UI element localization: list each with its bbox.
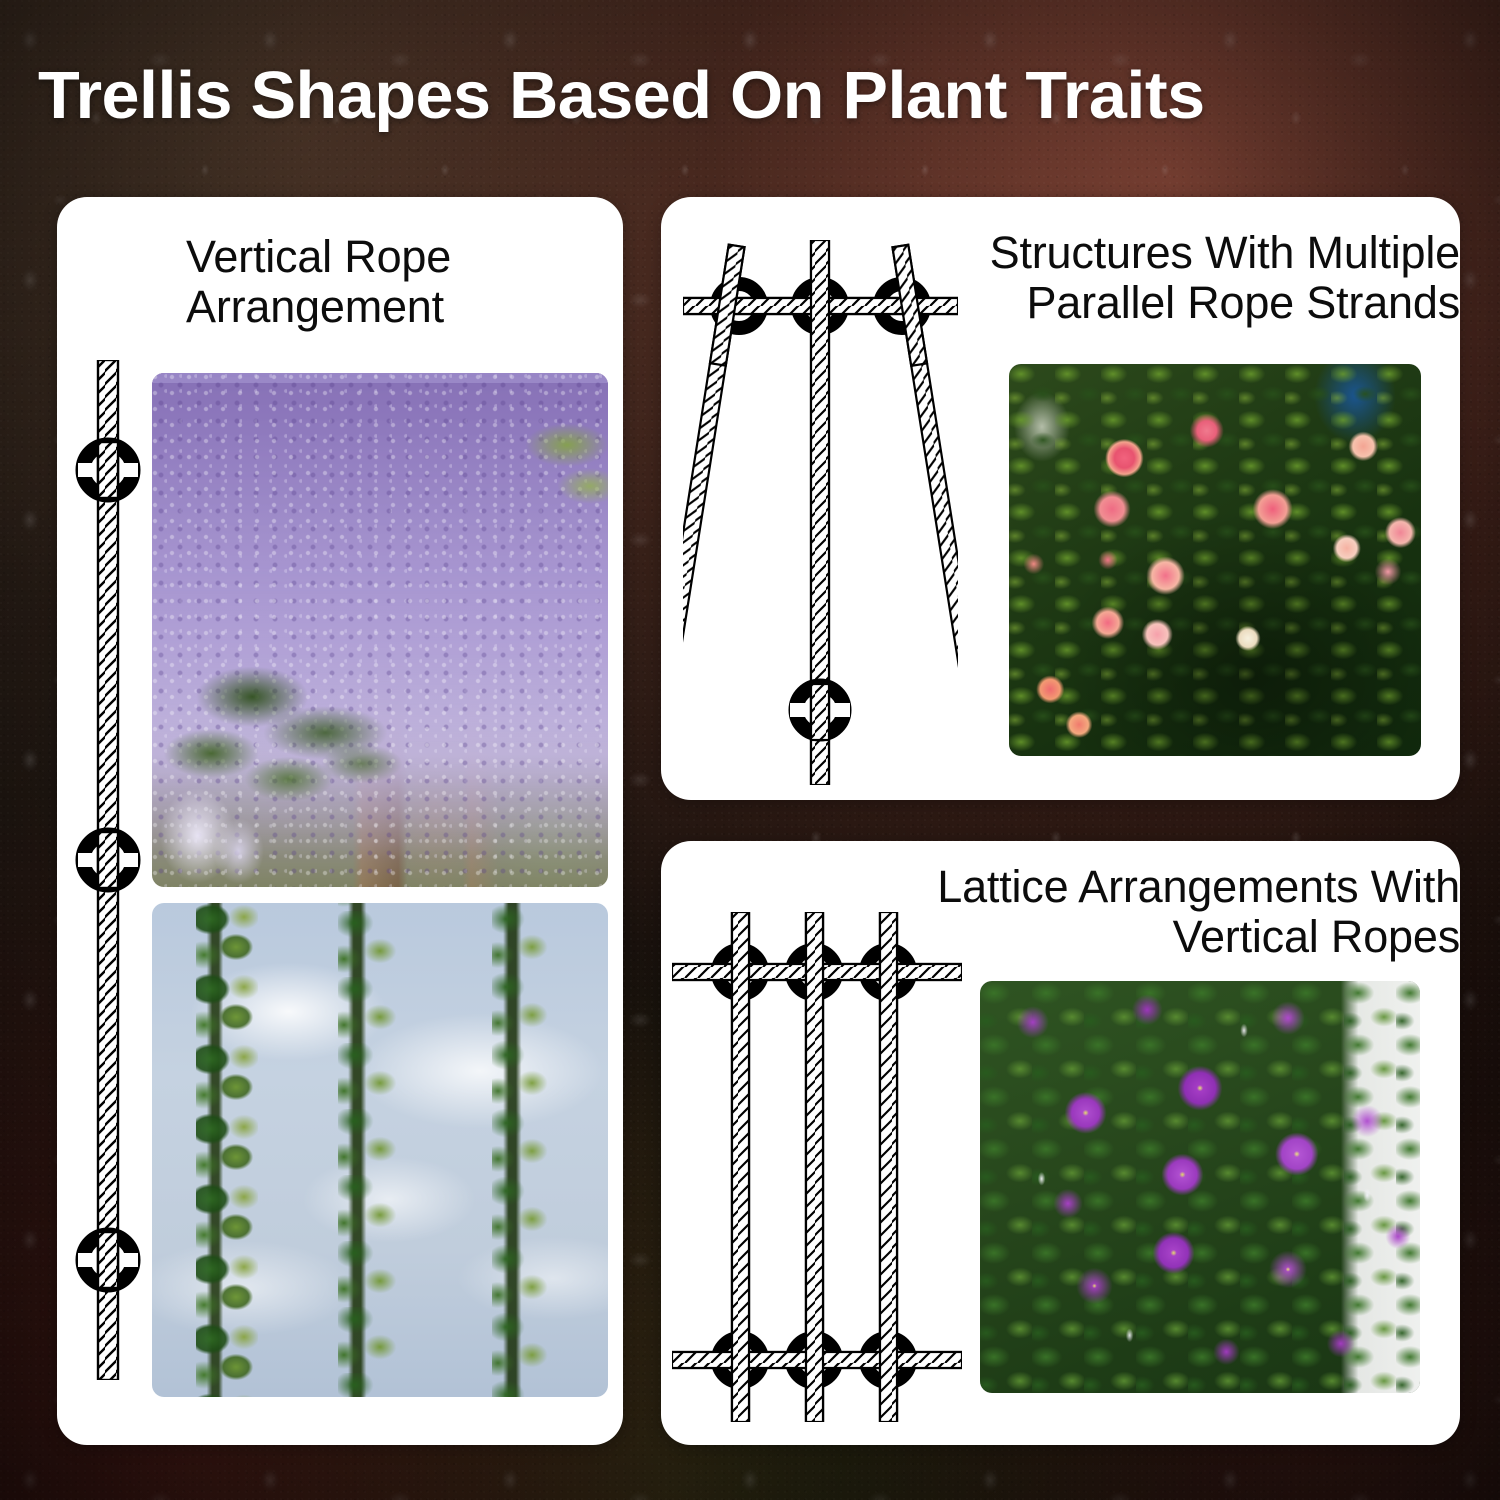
climbing-roses-photo [1009, 364, 1421, 756]
page-title: Trellis Shapes Based On Plant Traits [38, 62, 1497, 129]
card-heading-vertical-rope: Vertical Rope Arrangement [186, 232, 566, 333]
card-heading-parallel-strands: Structures With Multiple Parallel Rope S… [955, 228, 1460, 329]
card-heading-lattice: Lattice Arrangements With Vertical Ropes [915, 862, 1460, 963]
purple-clematis-photo [980, 981, 1420, 1393]
lattice-rope-diagram [672, 912, 962, 1422]
infographic-stage: Trellis Shapes Based On Plant Traits Ver… [0, 0, 1500, 1500]
wisteria-photo [152, 373, 608, 887]
ring-connector [78, 1232, 138, 1288]
ring-connector [790, 684, 850, 740]
ring-connector [78, 442, 138, 498]
vertical-rope-diagram [72, 360, 144, 1380]
fan-rope-diagram [683, 240, 958, 785]
climbing-vines-photo [152, 903, 608, 1397]
ring-connector [78, 832, 138, 888]
